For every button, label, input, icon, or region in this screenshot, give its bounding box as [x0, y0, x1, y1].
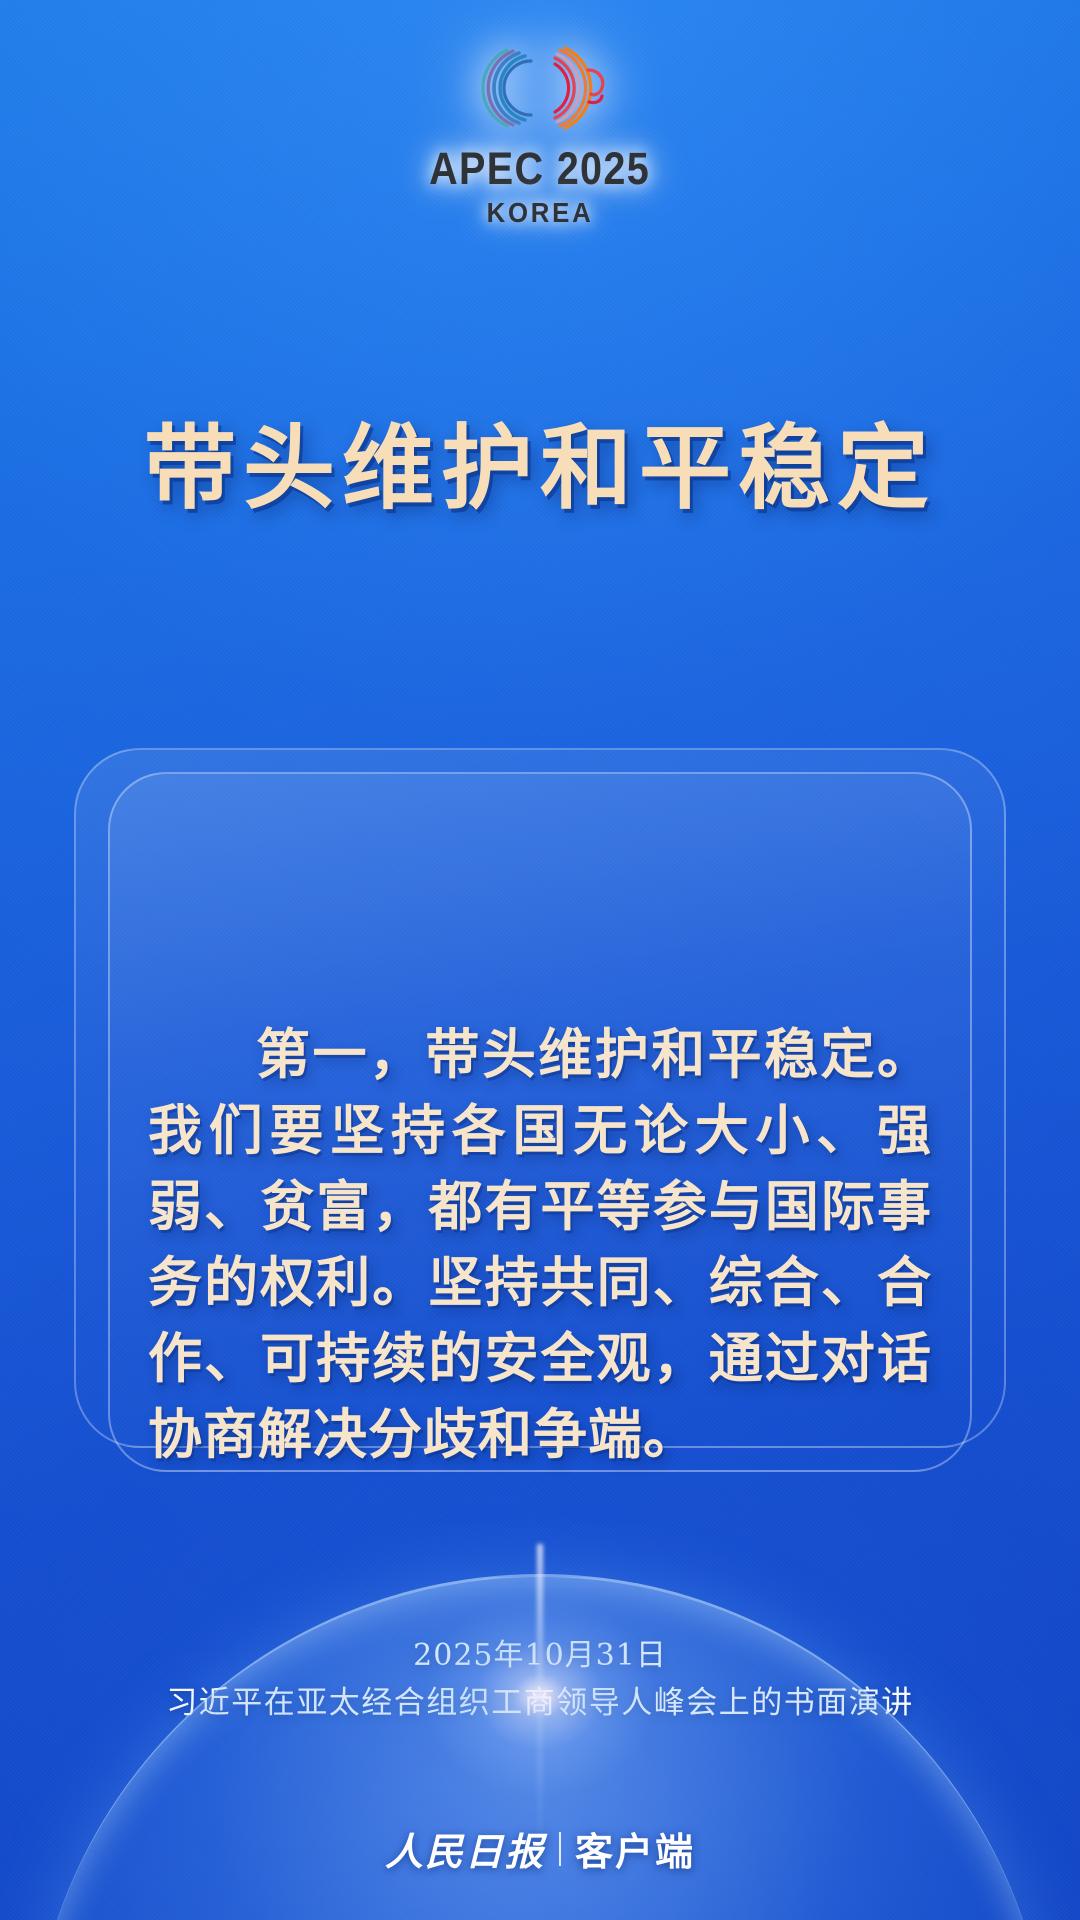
apec-korea-emblem-icon — [445, 34, 635, 142]
brand-divider — [559, 1832, 561, 1866]
page-title: 带头维护和平稳定 — [0, 394, 1080, 527]
apec-host-country-label: KOREA — [487, 197, 594, 229]
product-name: 客户端 — [575, 1821, 695, 1876]
apec-wordmark: APEC 2025 — [429, 146, 650, 191]
apec-quote-poster: APEC 2025 KOREA 带头维护和平稳定 第一，带头维护和平稳定。我们要… — [0, 0, 1080, 1920]
publisher-brand-footer: 人民日报 客户端 — [0, 1821, 1080, 1876]
quote-paragraph: 第一，带头维护和平稳定。我们要坚持各国无论大小、强弱、贫富，都有平等参与国际事务… — [148, 1016, 932, 1472]
apec-logo-block: APEC 2025 KOREA — [0, 34, 1080, 229]
attribution-source: 习近平在亚太经合组织工商领导人峰会上的书面演讲 — [0, 1683, 1080, 1725]
attribution-block: 2025年10月31日 习近平在亚太经合组织工商领导人峰会上的书面演讲 — [0, 1636, 1080, 1724]
publisher-name: 人民日报 — [385, 1821, 545, 1876]
attribution-date: 2025年10月31日 — [0, 1636, 1080, 1677]
